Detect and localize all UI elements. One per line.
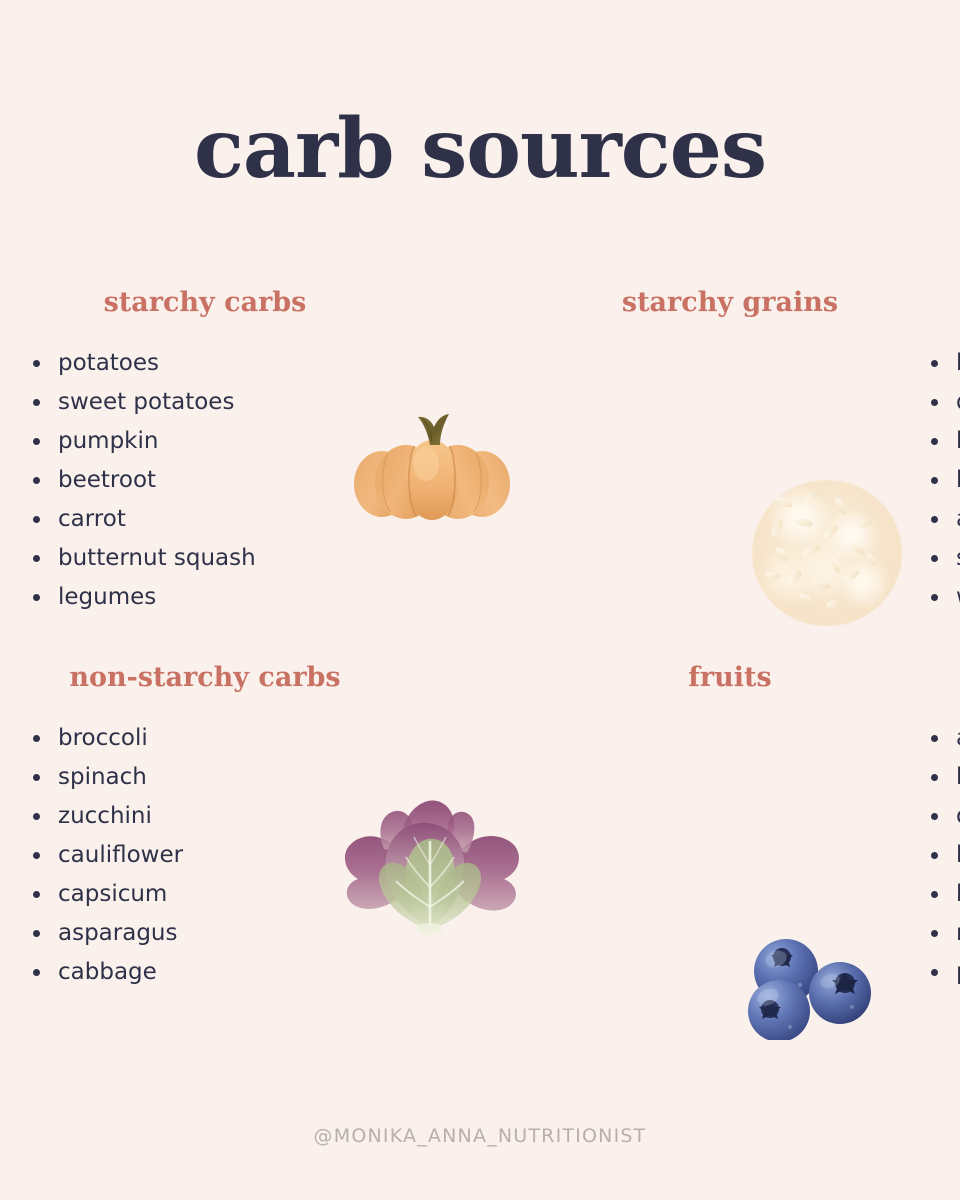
list-item: barley — [928, 422, 960, 461]
list-item-label: apples — [956, 725, 960, 751]
list-item: pumpkin — [30, 422, 480, 461]
list-item: zucchini — [30, 797, 480, 836]
bullet-icon — [33, 360, 40, 367]
bullet-icon — [931, 438, 938, 445]
list-item-label: quinoa — [956, 389, 960, 415]
list-item: pineapple — [928, 953, 960, 992]
bullet-icon — [33, 774, 40, 781]
list-item: cabbage — [30, 953, 480, 992]
list-item: capsicum — [30, 875, 480, 914]
list-item: spinach — [30, 758, 480, 797]
section-starchy-grains: starchy grains brown rice quinoa barley … — [480, 288, 960, 663]
infographic-page: carb sources — [0, 0, 960, 1200]
list-item: broccoli — [30, 719, 480, 758]
list-item: sweet potatoes — [30, 383, 480, 422]
list-item: asparagus — [30, 914, 480, 953]
bullet-icon — [931, 969, 938, 976]
bullet-icon — [931, 813, 938, 820]
fruits-list: apples bananas oranges berries kiwi mang… — [480, 719, 960, 992]
list-item-label: asparagus — [58, 920, 177, 946]
list-item-label: mango — [956, 920, 960, 946]
list-item-label: berries — [956, 842, 960, 868]
list-item-label: amaranth — [956, 506, 960, 532]
list-item-label: bananas — [956, 764, 960, 790]
bullet-icon — [931, 735, 938, 742]
list-item-label: legumes — [58, 584, 156, 610]
list-item: mango — [928, 914, 960, 953]
bullet-icon — [931, 774, 938, 781]
list-item-label: spelt — [956, 545, 960, 571]
list-item: buckwheat — [928, 461, 960, 500]
page-title: carb sources — [0, 108, 960, 190]
section-heading: fruits — [480, 663, 960, 693]
list-item-label: carrot — [58, 506, 126, 532]
bullet-icon — [33, 852, 40, 859]
list-item-label: spinach — [58, 764, 147, 790]
bullet-icon — [33, 555, 40, 562]
list-item: cauliflower — [30, 836, 480, 875]
list-item-label: oranges — [956, 803, 960, 829]
list-item-label: pineapple — [956, 959, 960, 985]
account-handle: @MONIKA_ANNA_NUTRITIONIST — [0, 1125, 960, 1147]
list-item: beetroot — [30, 461, 480, 500]
non-starchy-carbs-list: broccoli spinach zucchini cauliflower ca… — [0, 719, 480, 992]
list-item: quinoa — [928, 383, 960, 422]
bullet-icon — [931, 852, 938, 859]
section-heading: starchy carbs — [0, 288, 480, 318]
list-item-label: wild rice — [956, 584, 960, 610]
list-item: apples — [928, 719, 960, 758]
bullet-icon — [33, 969, 40, 976]
list-item: kiwi — [928, 875, 960, 914]
section-non-starchy-carbs: non-starchy carbs broccoli spinach zucch… — [0, 663, 480, 992]
list-item: potatoes — [30, 344, 480, 383]
list-item: brown rice — [928, 344, 960, 383]
list-item-label: kiwi — [956, 881, 960, 907]
list-item-label: butternut squash — [58, 545, 256, 571]
list-item-label: sweet potatoes — [58, 389, 234, 415]
list-item: berries — [928, 836, 960, 875]
list-item: oranges — [928, 797, 960, 836]
bullet-icon — [931, 891, 938, 898]
bullet-icon — [931, 516, 938, 523]
list-item-label: potatoes — [58, 350, 159, 376]
bullet-icon — [33, 477, 40, 484]
list-item: bananas — [928, 758, 960, 797]
section-heading: non-starchy carbs — [0, 663, 480, 693]
bullet-icon — [931, 555, 938, 562]
bullet-icon — [33, 735, 40, 742]
bullet-icon — [33, 930, 40, 937]
list-item-label: buckwheat — [956, 467, 960, 493]
list-item: amaranth — [928, 500, 960, 539]
list-item-label: cauliflower — [58, 842, 183, 868]
list-item-label: barley — [956, 428, 960, 454]
bullet-icon — [931, 399, 938, 406]
bullet-icon — [931, 930, 938, 937]
list-item-label: zucchini — [58, 803, 152, 829]
section-starchy-carbs: starchy carbs potatoes sweet potatoes pu… — [0, 288, 480, 663]
bullet-icon — [931, 594, 938, 601]
bullet-icon — [33, 891, 40, 898]
list-item-label: pumpkin — [58, 428, 158, 454]
starchy-grains-list: brown rice quinoa barley buckwheat amara… — [480, 344, 960, 617]
list-item: spelt — [928, 539, 960, 578]
section-heading: starchy grains — [480, 288, 960, 318]
list-item: wild rice — [928, 578, 960, 617]
bullet-icon — [33, 438, 40, 445]
bullet-icon — [33, 399, 40, 406]
sections-grid: starchy carbs potatoes sweet potatoes pu… — [0, 288, 960, 992]
bullet-icon — [931, 477, 938, 484]
section-fruits: fruits apples bananas oranges berries ki… — [480, 663, 960, 992]
list-item-label: capsicum — [58, 881, 167, 907]
list-item: carrot — [30, 500, 480, 539]
list-item: butternut squash — [30, 539, 480, 578]
bullet-icon — [931, 360, 938, 367]
list-item-label: beetroot — [58, 467, 156, 493]
list-item: legumes — [30, 578, 480, 617]
starchy-carbs-list: potatoes sweet potatoes pumpkin beetroot… — [0, 344, 480, 617]
bullet-icon — [33, 516, 40, 523]
bullet-icon — [33, 813, 40, 820]
list-item-label: cabbage — [58, 959, 157, 985]
bullet-icon — [33, 594, 40, 601]
list-item-label: broccoli — [58, 725, 148, 751]
list-item-label: brown rice — [956, 350, 960, 376]
